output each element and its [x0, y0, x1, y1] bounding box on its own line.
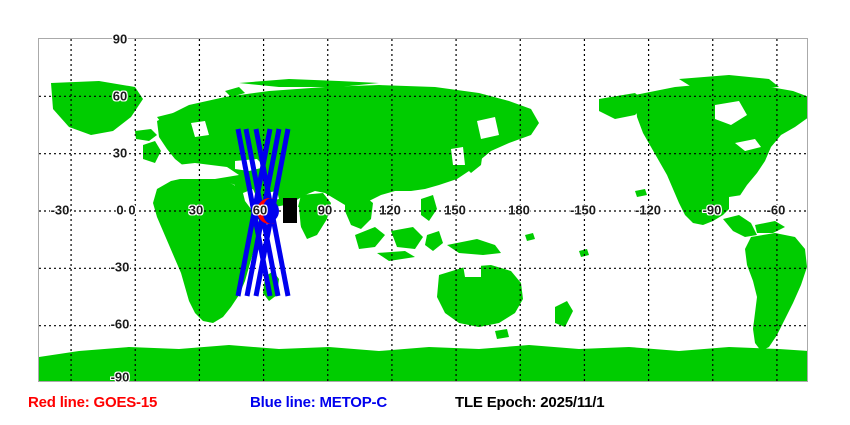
land-central-america: [723, 215, 757, 237]
lat-tick-0: 0: [116, 204, 123, 217]
land-sulawesi: [425, 231, 443, 251]
lon-tick-180: 180: [508, 204, 530, 217]
land-caribbean: [755, 221, 785, 233]
lon-tick-150: 150: [444, 204, 466, 217]
sea-gulf-mexico: [729, 193, 765, 215]
land-tasmania: [495, 329, 509, 339]
lon-tick-m60: -60: [767, 204, 786, 217]
lon-tick-m150: -150: [570, 204, 596, 217]
land-java: [377, 251, 415, 261]
land-pacific-islands-a: [525, 233, 535, 241]
land-philippines: [421, 195, 437, 221]
land-britain: [143, 141, 161, 163]
sea-bay-bengal: [331, 205, 345, 225]
lon-tick-m120: -120: [635, 204, 661, 217]
land-antarctica: [39, 345, 808, 382]
legend-red-line-goes15: Red line: GOES-15: [28, 394, 157, 411]
land-canada-arctic: [679, 75, 779, 89]
land-new-zealand: [555, 301, 573, 327]
legend-blue-line-metopc: Blue line: METOP-C: [250, 394, 387, 411]
lon-tick-m90: -90: [703, 204, 722, 217]
goes-15-black-box: [283, 198, 297, 223]
sea-okhotsk: [477, 117, 499, 139]
land-iceland: [135, 129, 157, 141]
land-greenland: [51, 81, 143, 135]
land-indochina: [345, 195, 373, 229]
landmass-layer: [39, 75, 808, 382]
lat-tick-m90: -90: [111, 371, 130, 384]
land-new-guinea: [447, 239, 501, 255]
sea-gulf-carpentaria: [463, 263, 481, 277]
satellite-ground-track-figure: 90 60 30 0 -30 -60 -90 -30 0 30 60 90 12…: [0, 0, 850, 425]
lon-tick-m30: -30: [51, 204, 70, 217]
lon-tick-90: 90: [318, 204, 332, 217]
land-south-america: [745, 233, 807, 351]
world-map-plot-area: [38, 38, 808, 382]
land-borneo: [391, 227, 423, 249]
sea-japan: [451, 147, 465, 165]
lat-tick-90: 90: [113, 33, 127, 46]
lon-tick-60: 60: [253, 204, 267, 217]
land-hawaii: [635, 189, 647, 197]
lat-tick-m30: -30: [111, 261, 130, 274]
lat-tick-m60: -60: [111, 318, 130, 331]
figure-legend: Red line: GOES-15 Blue line: METOP-C TLE…: [0, 392, 850, 420]
lat-tick-60: 60: [113, 90, 127, 103]
lon-tick-0: 0: [128, 204, 135, 217]
land-sumatra: [355, 227, 385, 249]
lon-tick-30: 30: [189, 204, 203, 217]
lon-tick-120: 120: [379, 204, 401, 217]
lat-tick-30: 30: [113, 147, 127, 160]
world-map-svg: [39, 39, 808, 382]
legend-tle-epoch: TLE Epoch: 2025/11/1: [455, 394, 604, 411]
